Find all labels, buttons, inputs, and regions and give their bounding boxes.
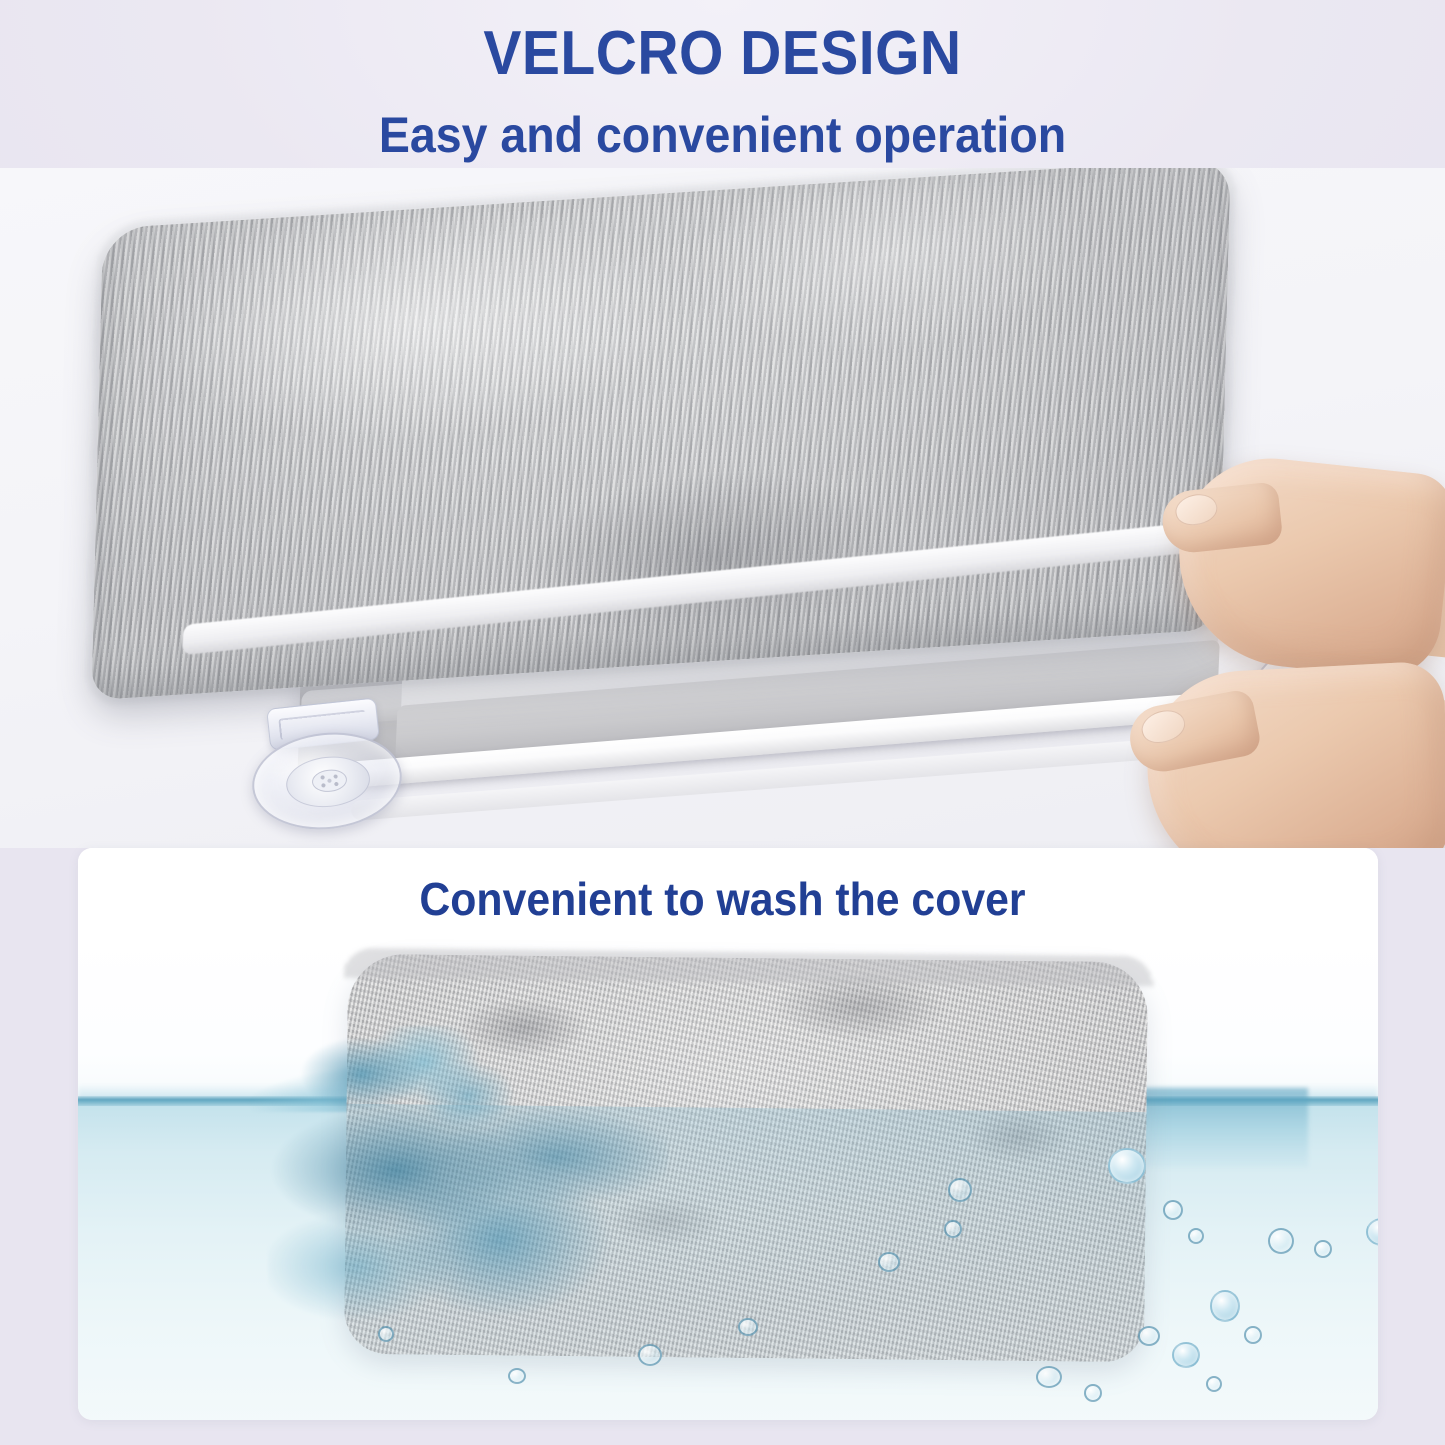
- page-subtitle: Easy and convenient operation: [51, 106, 1395, 164]
- air-bubble: [1108, 1148, 1146, 1184]
- panel-wash-demo: [78, 848, 1378, 1420]
- air-bubble: [638, 1344, 662, 1366]
- air-bubble: [738, 1318, 758, 1336]
- air-bubble: [1244, 1326, 1262, 1344]
- suction-cup-clip-left-upper: [247, 725, 406, 836]
- air-bubble: [1163, 1200, 1183, 1220]
- page-title: VELCRO DESIGN: [58, 18, 1387, 89]
- air-bubble: [1084, 1384, 1102, 1402]
- right-hand-upper: [1168, 450, 1445, 683]
- air-bubble: [1138, 1326, 1160, 1346]
- palm: [1168, 450, 1445, 683]
- air-bubble: [1314, 1240, 1332, 1258]
- air-bubble: [1188, 1228, 1204, 1244]
- air-bubble: [1172, 1342, 1200, 1368]
- air-bubble: [1036, 1366, 1062, 1388]
- infographic-canvas: VELCRO DESIGN Easy and convenient operat…: [0, 0, 1445, 1445]
- air-bubble: [378, 1326, 394, 1342]
- panel-velcro-demo: [0, 168, 1445, 848]
- air-bubble: [1210, 1290, 1240, 1322]
- air-bubble: [1268, 1228, 1294, 1254]
- water-splash-below: [268, 1106, 668, 1336]
- air-bubble: [1206, 1376, 1222, 1392]
- air-bubble: [944, 1220, 962, 1238]
- air-bubble: [948, 1178, 972, 1202]
- right-hand-lower: [1143, 660, 1445, 848]
- air-bubble: [508, 1368, 526, 1384]
- wash-panel-caption: Convenient to wash the cover: [51, 872, 1395, 926]
- air-bubble: [878, 1252, 900, 1272]
